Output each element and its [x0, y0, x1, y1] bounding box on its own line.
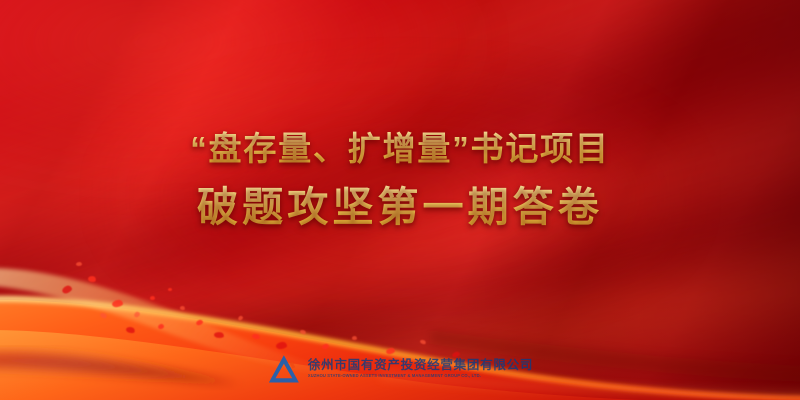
company-name-en: XUZHOU STATE-OWNED ASSETS INVESTMENT & M…: [308, 374, 533, 378]
triangle-logo-icon: [267, 352, 301, 386]
company-name-block: 徐州市国有资产投资经营集团有限公司 XUZHOU STATE-OWNED ASS…: [308, 359, 533, 378]
headline-line-2: 破题攻坚第一期答卷: [0, 179, 800, 235]
company-logo-lockup: 徐州市国有资产投资经营集团有限公司 XUZHOU STATE-OWNED ASS…: [267, 352, 533, 386]
banner-root: “盘存量、扩增量”书记项目 破题攻坚第一期答卷 徐州市国有资产投资经营集团有限公…: [0, 0, 800, 400]
headline-block: “盘存量、扩增量”书记项目 破题攻坚第一期答卷: [0, 126, 800, 235]
company-name-cn: 徐州市国有资产投资经营集团有限公司: [308, 359, 533, 372]
headline-line-1: “盘存量、扩增量”书记项目: [0, 126, 800, 172]
